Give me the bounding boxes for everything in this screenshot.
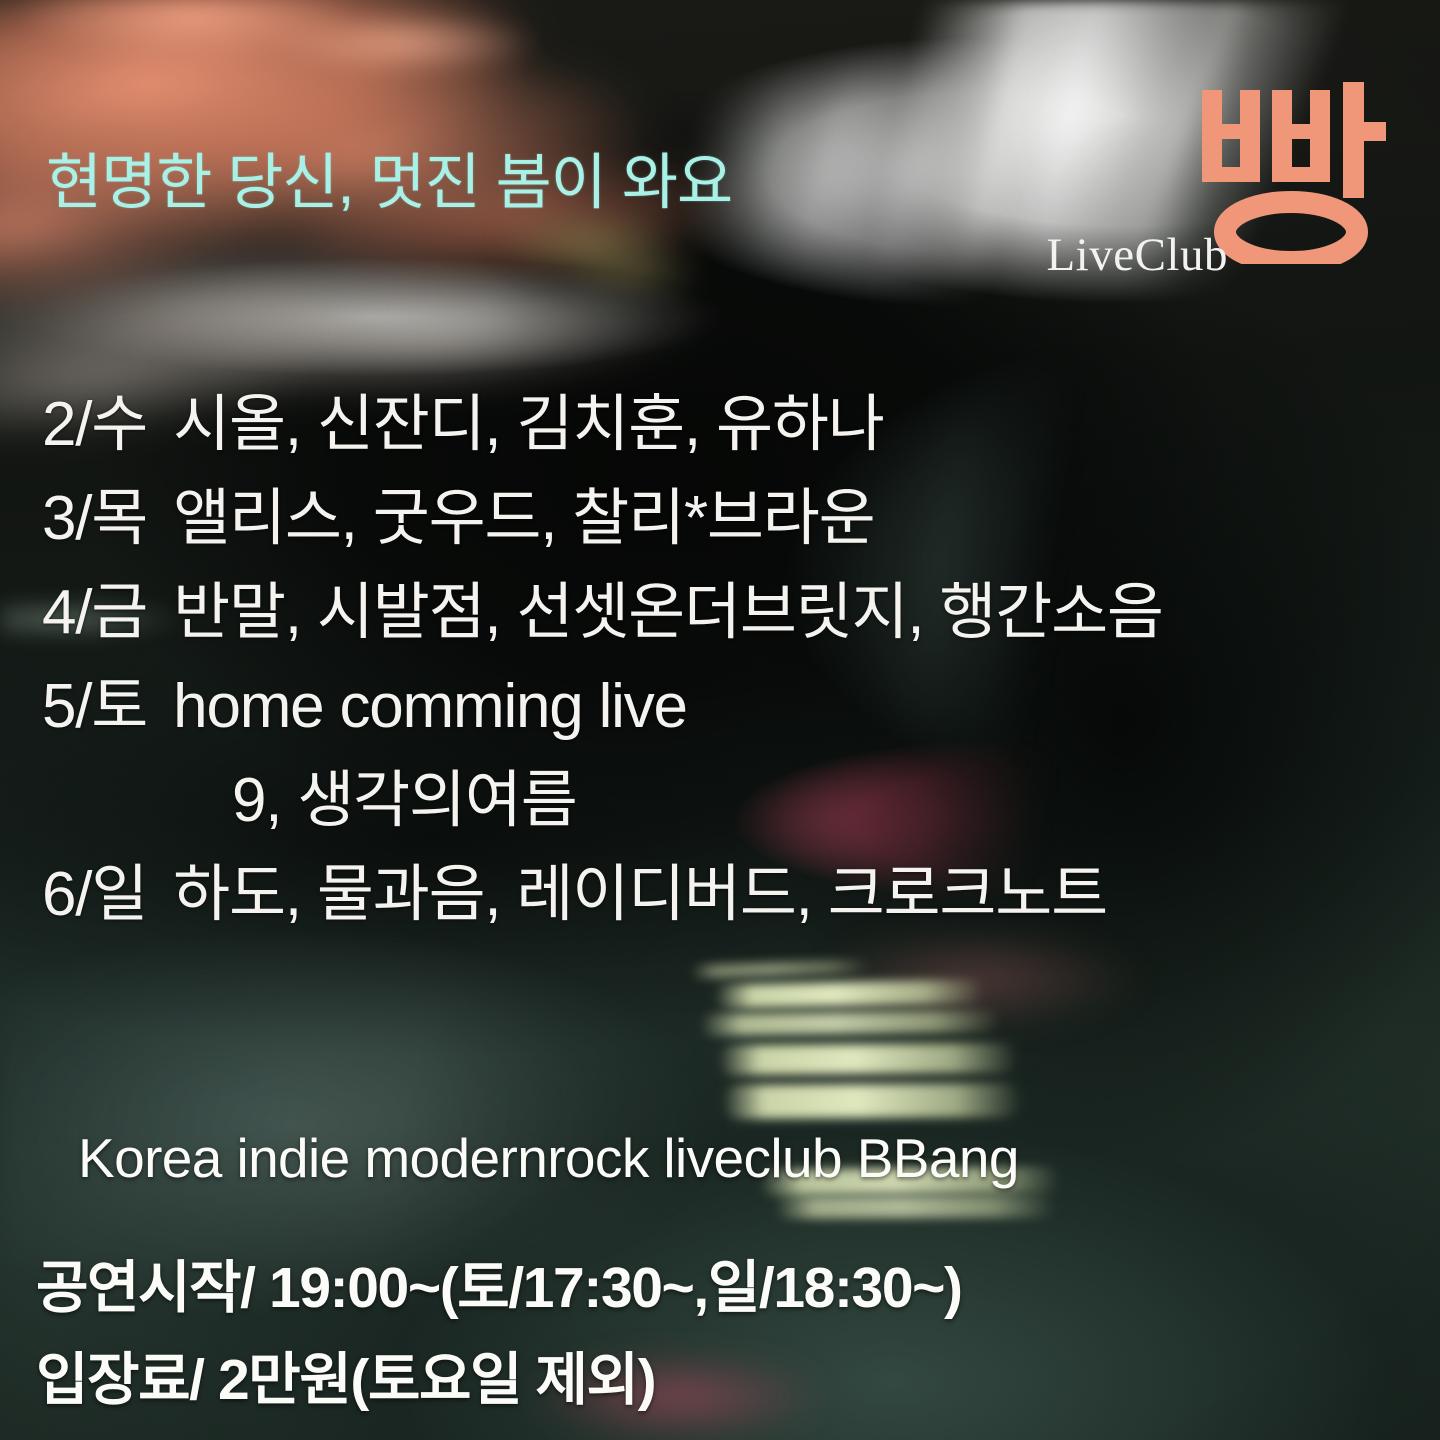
poster-canvas: 현명한 당신, 멋진 봄이 와요 [0,0,1440,1440]
lineup-list: 2/수 시올, 신잔디, 김치훈, 유하나 3/목 앨리스, 굿우드, 찰리*브… [42,378,1422,942]
lineup-acts: 앨리스, 굿우드, 찰리*브라운 [173,472,874,566]
lineup-date: 2/수 [42,378,147,472]
lineup-acts: home comming live [173,660,687,754]
lineup-row: 4/금 반말, 시발점, 선셋온더브릿지, 행간소음 [42,566,1422,660]
brand-logo: LiveClub [1066,82,1396,312]
lineup-row: 3/목 앨리스, 굿우드, 찰리*브라운 [42,472,1422,566]
lineup-acts: 하도, 물과음, 레이디버드, 크로크노트 [173,848,1107,942]
lineup-row-continuation: 9, 생각의여름 [42,754,1422,848]
logo-caption: LiveClub [1046,228,1228,282]
lineup-acts: 반말, 시발점, 선셋온더브릿지, 행간소음 [173,566,1163,660]
lineup-date: 3/목 [42,472,147,566]
lineup-date: 5/토 [42,660,147,754]
showtime-line: 공연시작/ 19:00~(토/17:30~,일/18:30~) [36,1242,962,1334]
lineup-date: 6/일 [42,848,147,942]
poster-headline: 현명한 당신, 멋진 봄이 와요 [46,132,732,221]
lineup-date: 4/금 [42,566,147,660]
lineup-row: 2/수 시올, 신잔디, 김치훈, 유하나 [42,378,1422,472]
poster-tagline: Korea indie modernrock liveclub BBang [78,1126,1019,1190]
event-info: 공연시작/ 19:00~(토/17:30~,일/18:30~) 입장료/ 2만원… [36,1242,962,1426]
admission-line: 입장료/ 2만원(토요일 제외) [36,1334,962,1426]
lineup-acts: 시올, 신잔디, 김치훈, 유하나 [173,378,883,472]
lineup-row: 5/토 home comming live [42,660,1422,754]
lineup-acts: 9, 생각의여름 [232,754,577,848]
lineup-row: 6/일 하도, 물과음, 레이디버드, 크로크노트 [42,848,1422,942]
poster-content: 현명한 당신, 멋진 봄이 와요 [0,0,1440,1440]
